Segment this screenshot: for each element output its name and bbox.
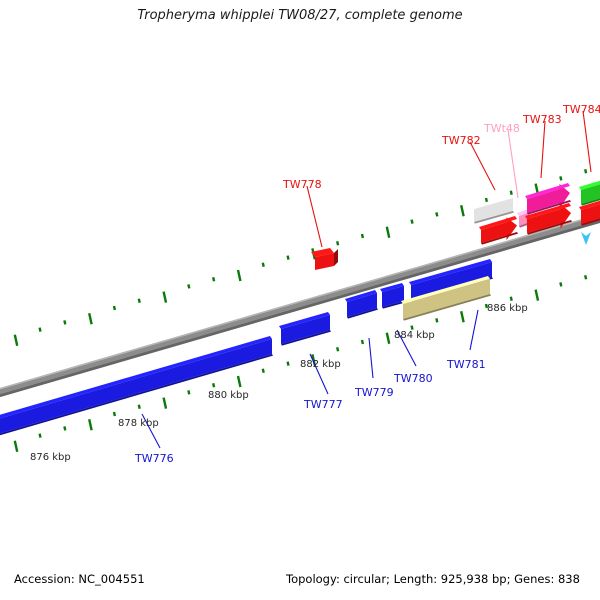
tick-mark [40,328,41,332]
tick-mark [560,282,561,286]
tick-mark [188,284,189,288]
tick-mark [387,333,389,344]
leader-line-TW778 [307,186,322,247]
gene-label-TW781[interactable]: TW781 [447,358,486,371]
coordinate-label-886-kbp: 886 kbp [487,303,528,314]
gene-label-TW780[interactable]: TW780 [394,372,433,385]
gene-label-TW779[interactable]: TW779 [355,386,394,399]
tick-mark [288,256,289,260]
tick-mark [213,277,214,281]
tick-mark [461,205,463,216]
tick-mark [436,212,437,216]
coordinate-label-880-kbp: 880 kbp [208,390,249,401]
gene-side-shade [334,249,338,266]
tick-mark [139,405,140,409]
tick-mark [560,176,561,180]
tick-mark [64,426,65,430]
coordinate-label-876-kbp: 876 kbp [30,452,71,463]
coordinate-label-878-kbp: 878 kbp [118,418,159,429]
gene-label-TW776[interactable]: TW776 [135,452,174,465]
gene-feature-TW780[interactable] [380,283,405,309]
tick-mark [412,326,413,330]
tick-mark [114,306,115,310]
tick-mark [15,335,17,346]
tick-mark [511,297,512,301]
leader-line-TW782 [470,142,495,190]
tick-mark [337,347,338,351]
gene-label-TW777[interactable]: TW777 [304,398,343,411]
gene-feature-TW784g[interactable] [579,176,600,206]
tick-mark [114,412,115,416]
tick-mark [288,362,289,366]
genome-viewer: Tropheryma whipplei TW08/27, complete ge… [0,0,600,600]
tick-mark [89,419,91,430]
tick-mark [213,383,214,387]
tick-mark [585,169,586,173]
tick-mark [89,313,91,324]
tick-mark [412,220,413,224]
tick-mark [337,241,338,245]
genome-stats-label: Topology: circular; Length: 925,938 bp; … [286,572,580,586]
gene-label-TW784[interactable]: TW784 [563,103,600,116]
tick-mark [461,311,463,322]
gene-feature-TW778[interactable] [311,248,338,270]
gene-features-group [0,259,493,447]
tick-mark [139,299,140,303]
gene-label-TW782[interactable]: TW782 [442,134,481,147]
leader-line-TW784 [583,111,591,172]
genome-map-canvas [0,0,600,600]
accession-label: Accession: NC_004551 [14,572,145,586]
tick-mark [585,275,586,279]
tick-mark [436,318,437,322]
tick-mark [536,290,538,301]
leader-line-TW783 [541,121,545,178]
tick-mark [238,270,240,281]
leader-line-TW779 [369,338,373,378]
tick-mark [362,340,363,344]
gene-label-TW778[interactable]: TW778 [283,178,322,191]
tick-mark [164,398,166,409]
leader-line-TWt48 [508,130,518,198]
tick-mark [486,198,487,202]
gene-label-TW783[interactable]: TW783 [523,113,562,126]
tick-mark [64,320,65,324]
tick-mark [15,441,17,452]
coordinate-label-884-kbp: 884 kbp [394,330,435,341]
tick-mark [362,234,363,238]
tick-mark [188,390,189,394]
tick-mark [263,263,264,267]
gene-feature-TW777[interactable] [279,312,331,346]
tick-mark [164,292,166,303]
tick-mark [238,376,240,387]
leader-line-TW781 [470,310,478,350]
tick-mark [387,227,389,238]
coordinate-label-882-kbp: 882 kbp [300,359,341,370]
tick-mark [263,369,264,373]
origin-marker[interactable] [581,232,591,245]
gene-label-TWt48[interactable]: TWt48 [484,122,520,135]
tick-mark [511,191,512,195]
tick-mark [40,434,41,438]
